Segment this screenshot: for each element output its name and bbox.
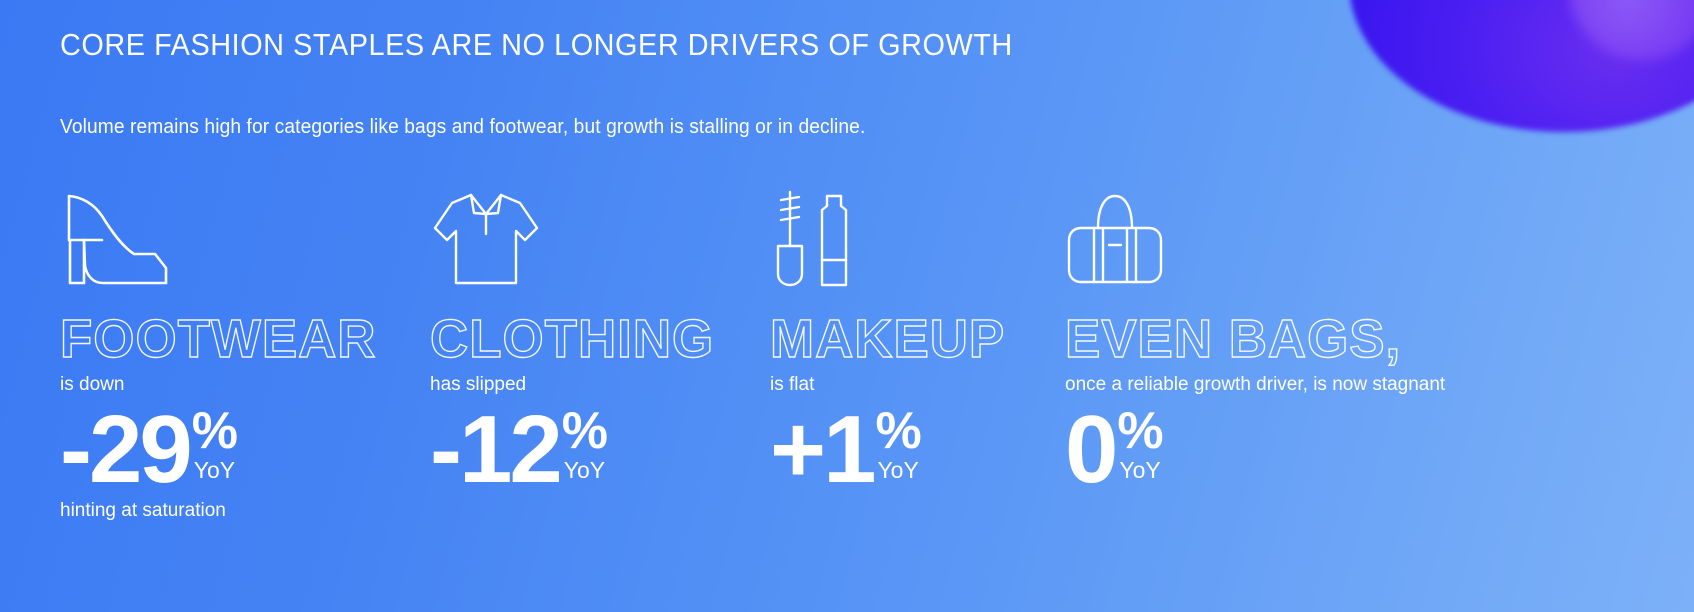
stat-value-group: +1 % YoY	[770, 406, 1065, 494]
stat-card-footwear: FOOTWEAR is down -29 % YoY hinting at sa…	[60, 178, 430, 522]
decorative-gradient-blob-inner	[1568, 0, 1694, 60]
stat-card-bags: EVEN BAGS, once a reliable growth driver…	[1065, 178, 1585, 500]
stat-percent-sign: %	[875, 410, 921, 453]
stat-value: -12	[430, 406, 560, 494]
stat-value-suffix: % YoY	[1117, 406, 1163, 482]
stat-percent-sign: %	[1117, 410, 1163, 453]
stat-card-clothing: CLOTHING has slipped -12 % YoY	[430, 178, 770, 500]
stat-footnote: hinting at saturation	[60, 500, 430, 522]
stat-value-group: 0 % YoY	[1065, 406, 1585, 494]
polo-shirt-icon	[430, 178, 770, 288]
stat-value: -29	[60, 406, 190, 494]
stat-category-label: EVEN BAGS,	[1065, 312, 1575, 366]
stat-period-label: YoY	[1119, 459, 1163, 482]
stat-value-suffix: % YoY	[192, 406, 238, 482]
stat-value-suffix: % YoY	[562, 406, 608, 482]
page-title: CORE FASHION STAPLES ARE NO LONGER DRIVE…	[60, 27, 1013, 63]
stat-value-group: -12 % YoY	[430, 406, 770, 494]
mascara-makeup-icon	[770, 178, 1065, 288]
stat-lede: once a reliable growth driver, is now st…	[1065, 374, 1585, 396]
stat-category-label: FOOTWEAR	[60, 312, 423, 366]
high-heel-shoe-icon	[60, 178, 430, 288]
stat-percent-sign: %	[192, 410, 238, 453]
stat-card-row: FOOTWEAR is down -29 % YoY hinting at sa…	[60, 178, 1694, 522]
stat-lede: has slipped	[430, 374, 770, 396]
stat-card-makeup: MAKEUP is flat +1 % YoY	[770, 178, 1065, 500]
stat-lede: is down	[60, 374, 430, 396]
stat-value: 0	[1065, 406, 1115, 494]
duffel-bag-icon	[1065, 178, 1585, 288]
stat-period-label: YoY	[564, 459, 608, 482]
stat-category-label: CLOTHING	[430, 312, 763, 366]
stat-value-suffix: % YoY	[875, 406, 921, 482]
page-subtitle: Volume remains high for categories like …	[60, 116, 865, 139]
stat-period-label: YoY	[194, 459, 238, 482]
decorative-gradient-blob	[1349, 0, 1694, 132]
stat-period-label: YoY	[877, 459, 921, 482]
stat-value: +1	[770, 406, 873, 494]
stat-percent-sign: %	[562, 410, 608, 453]
stat-value-group: -29 % YoY	[60, 406, 430, 494]
infographic-canvas: CORE FASHION STAPLES ARE NO LONGER DRIVE…	[0, 0, 1694, 612]
stat-category-label: MAKEUP	[770, 312, 1059, 366]
stat-lede: is flat	[770, 374, 1065, 396]
